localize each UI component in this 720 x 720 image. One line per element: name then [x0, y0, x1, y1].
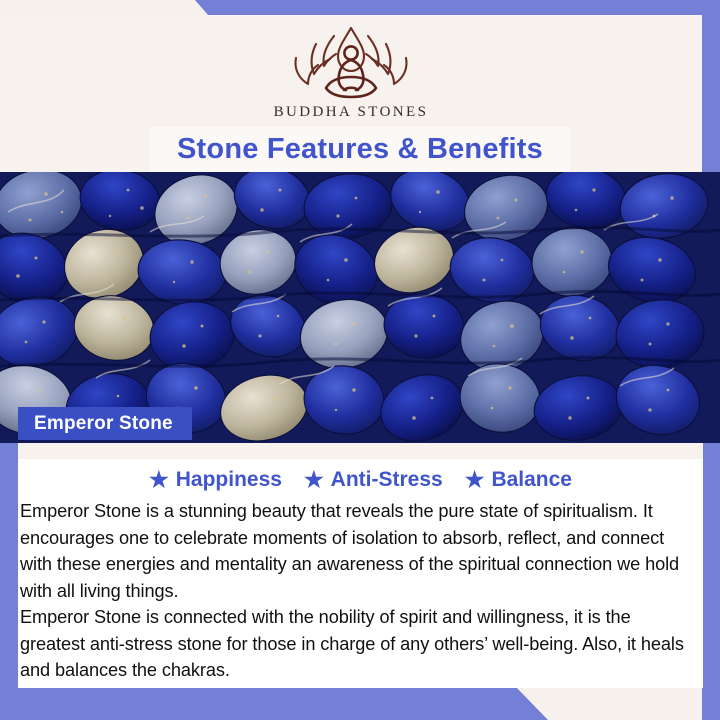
star-icon: ★	[465, 469, 485, 491]
benefit-item: ★ Happiness	[149, 468, 282, 492]
title-banner: Stone Features & Benefits	[150, 127, 570, 172]
decorative-band-left	[0, 443, 18, 720]
stone-photo	[0, 172, 720, 443]
star-icon: ★	[304, 469, 324, 491]
content-panel-top-strip	[18, 443, 703, 459]
description-paragraph-1: Emperor Stone is a stunning beauty that …	[20, 498, 700, 604]
star-icon: ★	[149, 469, 169, 491]
stone-name-label: Emperor Stone	[34, 413, 173, 435]
poster-root: BUDDHA STONES Stone Features & Benefits	[0, 0, 720, 720]
benefit-label: Anti-Stress	[331, 468, 443, 492]
benefit-label: Happiness	[176, 468, 282, 492]
benefit-item: ★ Anti-Stress	[304, 468, 443, 492]
brand-logo: BUDDHA STONES	[0, 22, 702, 121]
description-block: Emperor Stone is a stunning beauty that …	[20, 498, 700, 684]
decorative-band-bottom	[0, 686, 720, 720]
lapis-lazuli-stones-image	[0, 172, 720, 443]
benefit-item: ★ Balance	[465, 468, 572, 492]
lotus-meditation-icon	[278, 22, 424, 100]
stone-name-badge: Emperor Stone	[18, 407, 192, 440]
brand-name: BUDDHA STONES	[274, 104, 429, 121]
benefit-label: Balance	[491, 468, 572, 492]
benefits-row: ★ Happiness ★ Anti-Stress ★ Balance	[18, 468, 703, 492]
page-title: Stone Features & Benefits	[177, 133, 543, 166]
description-paragraph-2: Emperor Stone is connected with the nobi…	[20, 604, 700, 684]
